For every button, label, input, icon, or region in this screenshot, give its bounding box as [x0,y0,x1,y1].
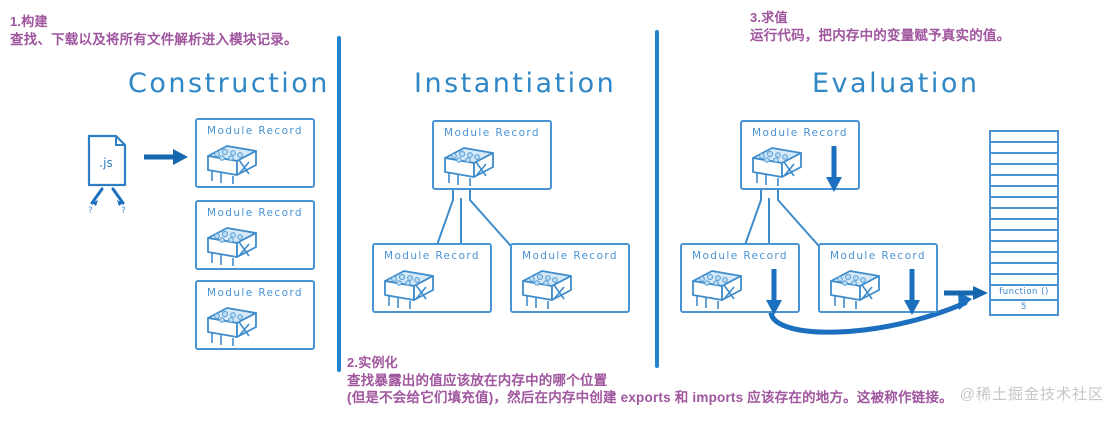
crate-icon [520,265,574,309]
down-arrow-icon [826,144,842,192]
note-instantiation-title: 2.实例化 [347,355,953,371]
note-construction: 1.构建 查找、下载以及将所有文件解析进入模块记录。 [10,14,298,48]
memory-row [991,198,1057,209]
crate-icon [442,142,496,186]
svg-text:?: ? [121,206,126,213]
note-evaluation: 3.求值 运行代码，把内存中的变量赋予真实的值。 [750,10,1010,44]
note-instantiation-line1: 查找暴露出的值应该放在内存中的哪个位置 [347,372,953,389]
memory-row [991,154,1057,165]
memory-row [991,132,1057,143]
memory-function-label: function () [991,286,1057,299]
module-record-box: Module Record [195,200,315,270]
note-construction-title: 1.构建 [10,14,298,30]
heading-evaluation: Evaluation [812,68,979,99]
js-file-icon: .js ? ? [85,133,129,213]
right-arrow-icon [143,146,189,168]
module-record-label: Module Record [197,207,313,219]
module-record-label: Module Record [682,250,798,262]
module-record-label: Module Record [820,250,936,262]
crate-icon [205,140,259,184]
watermark: @稀土掘金技术社区 [960,383,1104,404]
memory-row [991,143,1057,154]
memory-row [991,165,1057,176]
panel-divider-1 [337,36,341,372]
heading-instantiation: Instantiation [414,68,616,99]
svg-text:?: ? [88,206,93,213]
memory-row [991,264,1057,275]
down-arrow-icon [904,267,920,315]
panel-divider-2 [655,30,659,368]
down-arrow-icon [766,267,782,315]
memory-row [991,176,1057,187]
note-evaluation-line1: 运行代码，把内存中的变量赋予真实的值。 [750,27,1010,44]
module-record-box: Module Record [195,280,315,350]
module-record-box: Module Record [372,243,492,313]
crate-icon [205,302,259,346]
crate-icon [828,265,882,309]
module-record-label: Module Record [742,127,858,139]
module-record-label: Module Record [434,127,550,139]
heading-construction: Construction [128,68,330,99]
module-record-label: Module Record [374,250,490,262]
crate-icon [690,265,744,309]
memory-row [991,209,1057,220]
memory-row-value: 5 [991,301,1057,316]
module-record-box: Module Record [432,120,552,190]
module-record-box: Module Record [740,120,860,190]
memory-row-function: function () [991,286,1057,301]
memory-row [991,187,1057,198]
diagram-canvas: 1.构建 查找、下载以及将所有文件解析进入模块记录。 3.求值 运行代码，把内存… [0,0,1114,421]
module-record-label: Module Record [197,125,313,137]
module-record-box: Module Record [195,118,315,188]
memory-row [991,253,1057,264]
crate-icon [205,222,259,266]
memory-row [991,220,1057,231]
memory-value-label: 5 [991,301,1057,314]
note-instantiation-line2: (但是不会给它们填充值)，然后在内存中创建 exports 和 imports … [347,389,953,406]
memory-row [991,242,1057,253]
module-record-box: Module Record [680,243,800,313]
note-construction-line1: 查找、下载以及将所有文件解析进入模块记录。 [10,31,298,48]
crate-icon [382,265,436,309]
note-instantiation: 2.实例化 查找暴露出的值应该放在内存中的哪个位置 (但是不会给它们填充值)，然… [347,355,953,406]
note-evaluation-title: 3.求值 [750,10,1010,26]
memory-row [991,231,1057,242]
module-record-box: Module Record [818,243,938,313]
module-record-label: Module Record [512,250,628,262]
memory-row [991,275,1057,286]
module-record-box: Module Record [510,243,630,313]
svg-text:.js: .js [99,156,112,170]
module-record-label: Module Record [197,287,313,299]
memory-table: function () 5 [989,130,1059,316]
crate-icon [750,142,804,186]
